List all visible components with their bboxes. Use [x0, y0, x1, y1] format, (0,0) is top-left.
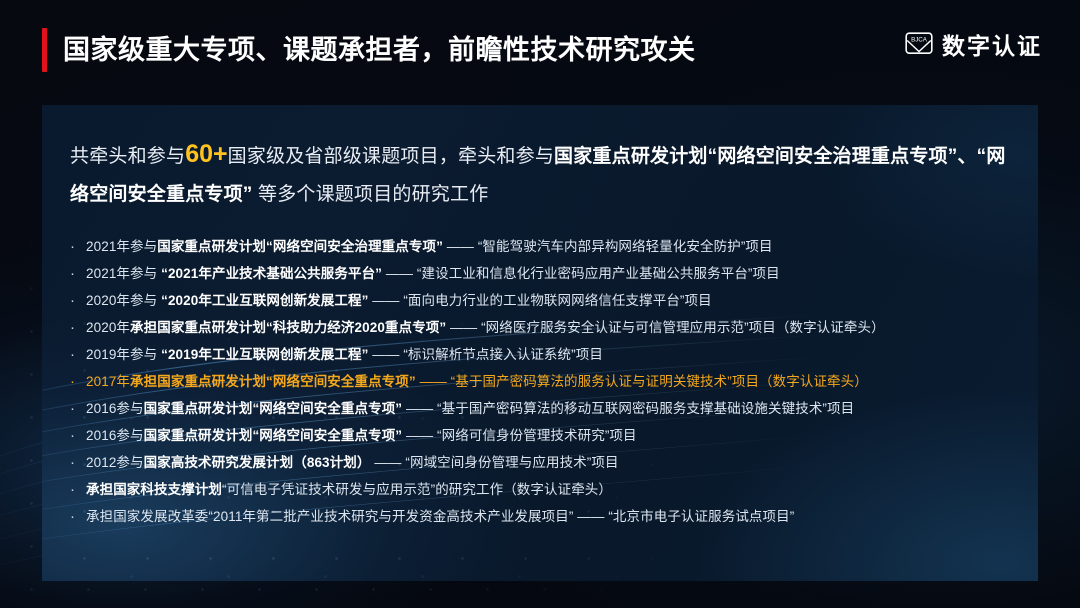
list-item-emphasis: 国家重点研发计划“网络空间安全重点专项”	[144, 428, 403, 443]
bullet-marker-icon: ·	[70, 422, 86, 449]
bullet-marker-icon: ·	[70, 233, 86, 260]
lead-text-after-plain: 国家级及省部级课题项目，牵头和参与	[228, 146, 554, 167]
list-item-text: 2021年参与 “2021年产业技术基础公共服务平台” —— “建设工业和信息化…	[86, 260, 1022, 287]
title-accent-bar	[42, 28, 47, 72]
lead-text-before: 共牵头和参与	[70, 146, 185, 167]
list-item-prefix: 2012参与	[86, 455, 144, 470]
list-item-prefix: 2019年参与	[86, 347, 161, 362]
list-item-prefix: 2020年	[86, 320, 130, 335]
list-item-suffix: —— “网络医疗服务安全认证与可信管理应用示范”项目（数字认证牵头）	[446, 320, 885, 335]
list-item: ·承担国家科技支撑计划“可信电子凭证技术研发与应用示范”的研究工作（数字认证牵头…	[70, 476, 1022, 503]
list-item-emphasis: “2019年工业互联网创新发展工程”	[161, 347, 368, 362]
bullet-marker-icon: ·	[70, 341, 86, 368]
list-item-emphasis: 承担国家重点研发计划“科技助力经济2020重点专项”	[130, 320, 446, 335]
list-item-prefix: 2016参与	[86, 428, 144, 443]
bullet-marker-icon: ·	[70, 314, 86, 341]
list-item-text: 2016参与国家重点研发计划“网络空间安全重点专项” —— “基于国产密码算法的…	[86, 395, 1022, 422]
list-item-text: 2020年参与 “2020年工业互联网创新发展工程” —— “面向电力行业的工业…	[86, 287, 1022, 314]
lead-paragraph: 共牵头和参与60+国家级及省部级课题项目，牵头和参与国家重点研发计划“网络空间安…	[70, 135, 1014, 214]
content-panel: 共牵头和参与60+国家级及省部级课题项目，牵头和参与国家重点研发计划“网络空间安…	[42, 105, 1038, 581]
highlight-count: 60+	[185, 140, 227, 168]
brand-logo: BJCA 数字认证	[905, 32, 1042, 60]
list-item-prefix: 2016参与	[86, 401, 144, 416]
page-title: 国家级重大专项、课题承担者，前瞻性技术研究攻关	[63, 31, 696, 69]
list-item-suffix: —— “智能驾驶汽车内部异构网络轻量化安全防护”项目	[443, 239, 773, 254]
list-item-prefix: 2021年参与	[86, 239, 157, 254]
bullet-marker-icon: ·	[70, 260, 86, 287]
list-item-suffix: “可信电子凭证技术研发与应用示范”的研究工作（数字认证牵头）	[222, 482, 612, 497]
bullet-marker-icon: ·	[70, 287, 86, 314]
list-item-emphasis: “2020年工业互联网创新发展工程”	[161, 293, 368, 308]
list-item-text: 2012参与国家高技术研究发展计划（863计划） —— “网域空间身份管理与应用…	[86, 449, 1022, 476]
list-item-text: 2021年参与国家重点研发计划“网络空间安全治理重点专项” —— “智能驾驶汽车…	[86, 233, 1022, 260]
list-item-suffix: —— “建设工业和信息化行业密码应用产业基础公共服务平台”项目	[382, 266, 780, 281]
list-item-emphasis: 国家重点研发计划“网络空间安全治理重点专项”	[157, 239, 443, 254]
list-item-text: 承担国家发展改革委“2011年第二批产业技术研究与开发资金高技术产业发展项目” …	[86, 503, 1022, 530]
list-item-emphasis: 承担国家科技支撑计划	[86, 482, 222, 497]
list-item: ·2020年参与 “2020年工业互联网创新发展工程” —— “面向电力行业的工…	[70, 287, 1022, 314]
list-item: ·2017年承担国家重点研发计划“网络空间安全重点专项” —— “基于国产密码算…	[70, 368, 1022, 395]
brand-name: 数字认证	[942, 32, 1042, 60]
project-list: ·2021年参与国家重点研发计划“网络空间安全治理重点专项” —— “智能驾驶汽…	[70, 233, 1022, 530]
list-item-prefix: 2020年参与	[86, 293, 161, 308]
list-item: ·2021年参与 “2021年产业技术基础公共服务平台” —— “建设工业和信息…	[70, 260, 1022, 287]
list-item: ·2012参与国家高技术研究发展计划（863计划） —— “网域空间身份管理与应…	[70, 449, 1022, 476]
list-item-suffix: —— “基于国产密码算法的服务认证与证明关键技术”项目（数字认证牵头）	[416, 374, 868, 389]
list-item-emphasis: 承担国家重点研发计划“网络空间安全重点专项”	[130, 374, 416, 389]
bullet-marker-icon: ·	[70, 368, 86, 395]
list-item: ·2016参与国家重点研发计划“网络空间安全重点专项” —— “网络可信身份管理…	[70, 422, 1022, 449]
header: 国家级重大专项、课题承担者，前瞻性技术研究攻关 BJCA 数字认证	[0, 0, 1080, 96]
lead-text-tail: 等多个课题项目的研究工作	[253, 184, 489, 205]
list-item-suffix: —— “标识解析节点接入认证系统”项目	[368, 347, 603, 362]
list-item-suffix: —— “网络可信身份管理技术研究”项目	[402, 428, 637, 443]
list-item: ·2019年参与 “2019年工业互联网创新发展工程” —— “标识解析节点接入…	[70, 341, 1022, 368]
bullet-marker-icon: ·	[70, 449, 86, 476]
slide-root: 国家级重大专项、课题承担者，前瞻性技术研究攻关 BJCA 数字认证	[0, 0, 1080, 608]
list-item-emphasis: 国家高技术研究发展计划（863计划）	[144, 455, 371, 470]
list-item-text: 2017年承担国家重点研发计划“网络空间安全重点专项” —— “基于国产密码算法…	[86, 368, 1022, 395]
list-item-text: 2020年承担国家重点研发计划“科技助力经济2020重点专项” —— “网络医疗…	[86, 314, 1022, 341]
list-item-text: 2016参与国家重点研发计划“网络空间安全重点专项” —— “网络可信身份管理技…	[86, 422, 1022, 449]
list-item-emphasis: 国家重点研发计划“网络空间安全重点专项”	[144, 401, 403, 416]
list-item-emphasis: “2021年产业技术基础公共服务平台”	[161, 266, 382, 281]
bjca-shield-icon: BJCA	[905, 32, 933, 60]
bullet-marker-icon: ·	[70, 503, 86, 530]
svg-text:BJCA: BJCA	[911, 37, 928, 44]
list-item: ·承担国家发展改革委“2011年第二批产业技术研究与开发资金高技术产业发展项目”…	[70, 503, 1022, 530]
bullet-marker-icon: ·	[70, 395, 86, 422]
list-item: ·2016参与国家重点研发计划“网络空间安全重点专项” —— “基于国产密码算法…	[70, 395, 1022, 422]
list-item-prefix: 2021年参与	[86, 266, 161, 281]
list-item-text: 2019年参与 “2019年工业互联网创新发展工程” —— “标识解析节点接入认…	[86, 341, 1022, 368]
bullet-marker-icon: ·	[70, 476, 86, 503]
list-item: ·2020年承担国家重点研发计划“科技助力经济2020重点专项” —— “网络医…	[70, 314, 1022, 341]
list-item-suffix: —— “面向电力行业的工业物联网网络信任支撑平台”项目	[368, 293, 711, 308]
list-item-suffix: —— “基于国产密码算法的移动互联网密码服务支撑基础设施关键技术”项目	[402, 401, 854, 416]
list-item-prefix: 承担国家发展改革委“2011年第二批产业技术研究与开发资金高技术产业发展项目” …	[86, 509, 794, 524]
list-item-text: 承担国家科技支撑计划“可信电子凭证技术研发与应用示范”的研究工作（数字认证牵头）	[86, 476, 1022, 503]
list-item-prefix: 2017年	[86, 374, 130, 389]
list-item-suffix: —— “网域空间身份管理与应用技术”项目	[370, 455, 618, 470]
list-item: ·2021年参与国家重点研发计划“网络空间安全治理重点专项” —— “智能驾驶汽…	[70, 233, 1022, 260]
